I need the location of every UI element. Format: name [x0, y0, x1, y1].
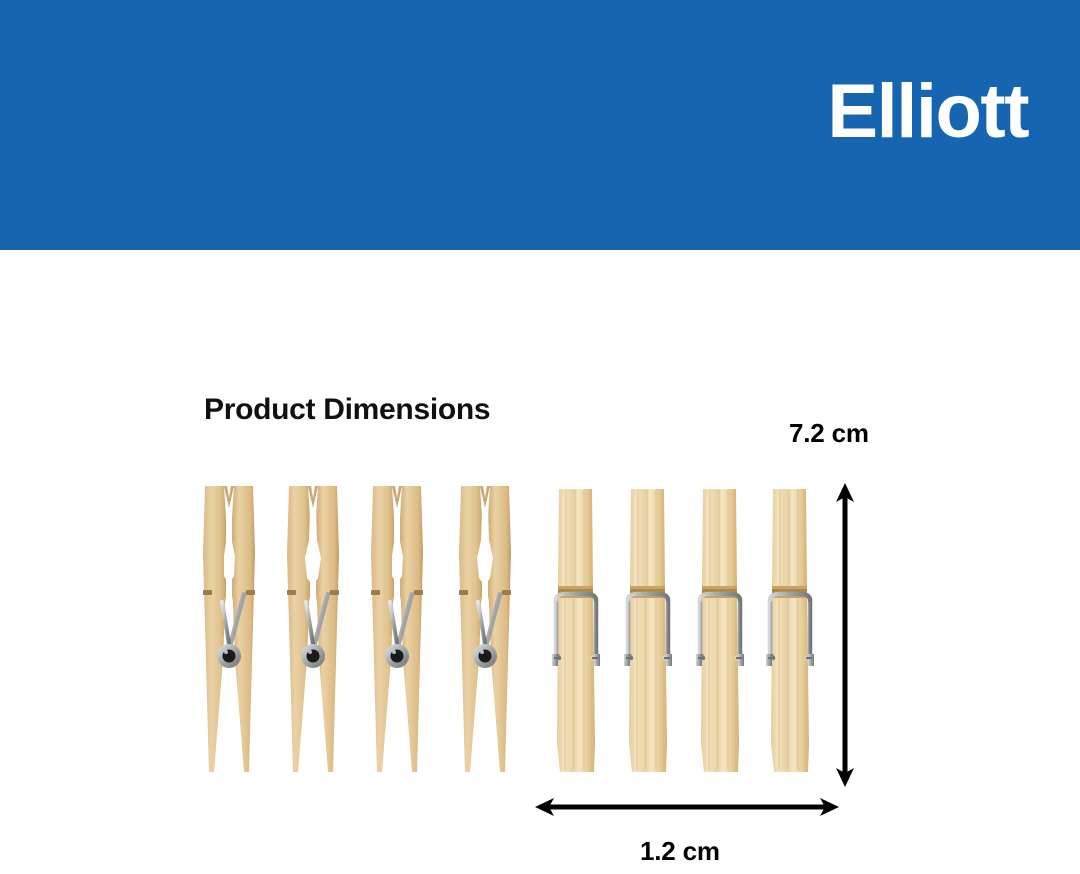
clothespin-front-1: [200, 484, 258, 774]
width-dimension-arrow: [534, 790, 840, 824]
clothespin-front-2: [284, 484, 342, 774]
product-illustration: [0, 250, 1080, 874]
height-dimension-arrow: [828, 482, 862, 788]
clothespin-side-4: [764, 486, 816, 774]
header-banner: Elliott: [0, 0, 1080, 250]
clothespin-side-3: [694, 486, 746, 774]
clothespin-front-3: [368, 484, 426, 774]
brand-logo: Elliott: [827, 74, 1028, 150]
clothespin-front-4: [456, 484, 514, 774]
clothespin-side-2: [622, 486, 674, 774]
content-area: Product Dimensions 7.2 cm 1.2 cm: [0, 250, 1080, 874]
product-dimensions-page: Elliott Product Dimensions 7.2 cm 1.2 cm: [0, 0, 1080, 874]
clothespin-side-1: [550, 486, 602, 774]
